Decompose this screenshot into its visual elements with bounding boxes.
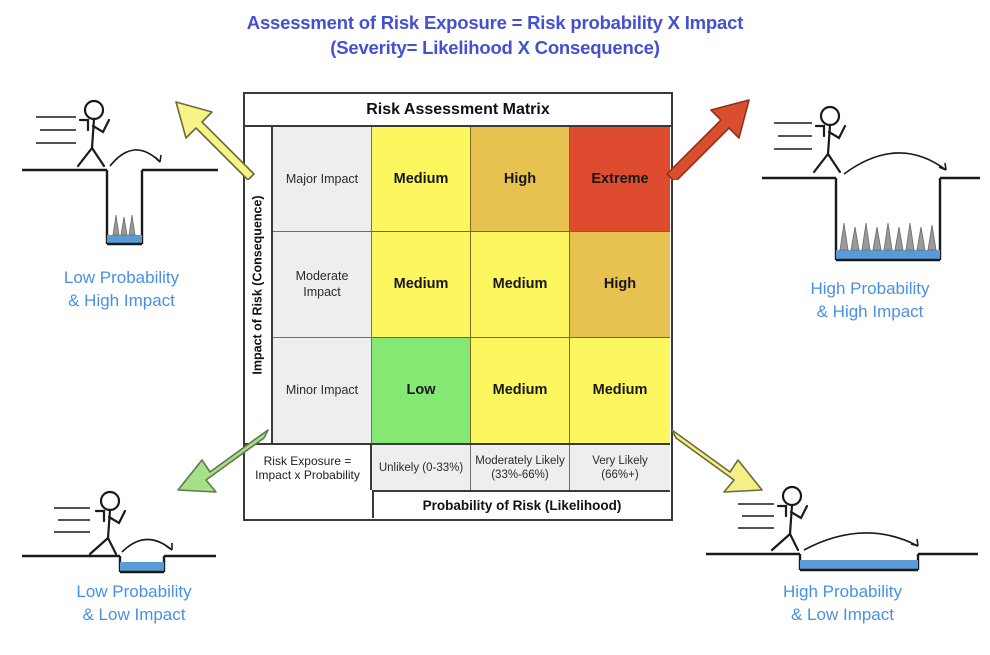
caption-line-2: & Low Impact xyxy=(700,603,985,626)
prob-moderate-line-1: Moderately Likely xyxy=(475,454,564,468)
jump-arc-icon xyxy=(844,153,946,174)
matrix-header-title: Risk Assessment Matrix xyxy=(245,94,671,127)
matrix-probability-row: Risk Exposure = Impact x Probability Unl… xyxy=(245,443,670,490)
jump-arc-icon xyxy=(804,533,918,550)
caption-low-probability-low-impact: Low Probability & Low Impact xyxy=(16,580,252,626)
caption-line-2: & High Impact xyxy=(756,300,984,323)
matrix-grid: Major Impact Medium High Extreme Moderat… xyxy=(273,127,670,443)
water-icon xyxy=(836,250,940,260)
arrow-up-right xyxy=(665,98,760,185)
speed-lines-icon xyxy=(54,508,90,532)
caption-high-probability-low-impact: High Probability & Low Impact xyxy=(700,580,985,626)
scenario-high-probability-high-impact: High Probability & High Impact xyxy=(756,90,984,323)
ground-and-pit xyxy=(762,178,980,260)
prob-moderate-line-2: (33%-66%) xyxy=(475,468,564,482)
matrix-cell-major-unlikely[interactable]: Medium xyxy=(372,127,471,232)
caption-line-1: High Probability xyxy=(756,277,984,300)
title-line-1: Assessment of Risk Exposure = Risk proba… xyxy=(0,10,990,35)
stick-figure-icon xyxy=(814,107,845,172)
stick-figure-icon xyxy=(772,487,807,550)
water-icon xyxy=(120,562,164,572)
stick-figure-icon xyxy=(90,492,125,554)
caption-line-2: & Low Impact xyxy=(16,603,252,626)
speed-lines-icon xyxy=(36,117,76,143)
page-title: Assessment of Risk Exposure = Risk proba… xyxy=(0,10,990,60)
caption-low-probability-high-impact: Low Probability & High Impact xyxy=(14,266,229,312)
prob-very-likely-line-1: Very Likely xyxy=(592,454,648,468)
ground-and-pit xyxy=(22,170,218,244)
matrix-cell-minor-very-likely[interactable]: Medium xyxy=(570,338,670,443)
caption-line-1: Low Probability xyxy=(14,266,229,289)
probability-label-unlikely: Unlikely (0-33%) xyxy=(372,445,471,490)
jump-arc-icon xyxy=(110,150,161,166)
sketch-small-puddle xyxy=(16,468,252,578)
caption-line-2: & High Impact xyxy=(14,289,229,312)
prob-unlikely-line-1: Unlikely (0-33%) xyxy=(379,461,463,475)
caption-line-1: High Probability xyxy=(700,580,985,603)
caption-high-probability-high-impact: High Probability & High Impact xyxy=(756,277,984,323)
diagram-canvas: Assessment of Risk Exposure = Risk proba… xyxy=(0,0,990,655)
matrix-cell-moderate-very-likely[interactable]: High xyxy=(570,232,670,337)
matrix-cell-major-moderately-likely[interactable]: High xyxy=(471,127,570,232)
sketch-wide-deep-pit xyxy=(756,90,984,275)
matrix-cell-moderate-unlikely[interactable]: Medium xyxy=(372,232,471,337)
jump-arc-icon xyxy=(122,539,172,552)
spikes-icon xyxy=(113,215,135,235)
speed-lines-icon xyxy=(774,123,812,149)
matrix-x-axis-label: Probability of Risk (Likelihood) xyxy=(372,490,670,518)
probability-label-moderately-likely: Moderately Likely (33%-66%) xyxy=(471,445,570,490)
stick-figure-icon xyxy=(78,101,109,166)
scenario-high-probability-low-impact: High Probability & Low Impact xyxy=(700,468,985,626)
probability-label-very-likely: Very Likely (66%+) xyxy=(570,445,670,490)
spikes-icon xyxy=(840,223,936,250)
matrix-cell-minor-unlikely[interactable]: Low xyxy=(372,338,471,443)
water-icon xyxy=(107,235,142,244)
water-icon xyxy=(800,560,918,570)
matrix-cell-moderate-moderately-likely[interactable]: Medium xyxy=(471,232,570,337)
ground-and-pit xyxy=(22,556,216,572)
scenario-low-probability-high-impact: Low Probability & High Impact xyxy=(14,82,229,312)
matrix-cell-minor-moderately-likely[interactable]: Medium xyxy=(471,338,570,443)
speed-lines-icon xyxy=(738,504,774,528)
row-label-moderate-impact: Moderate Impact xyxy=(273,232,372,337)
title-line-2: (Severity= Likelihood X Consequence) xyxy=(0,35,990,60)
matrix-cell-major-very-likely[interactable]: Extreme xyxy=(570,127,670,232)
sketch-wide-puddle xyxy=(700,468,985,578)
row-label-major-impact: Major Impact xyxy=(273,127,372,232)
y-axis-text: Impact of Risk (Consequence) xyxy=(251,195,265,374)
scenario-low-probability-low-impact: Low Probability & Low Impact xyxy=(16,468,252,626)
sketch-narrow-deep-pit xyxy=(14,82,229,262)
caption-line-1: Low Probability xyxy=(16,580,252,603)
row-label-minor-impact: Minor Impact xyxy=(273,338,372,443)
risk-assessment-matrix: Risk Assessment Matrix Impact of Risk (C… xyxy=(243,92,673,521)
prob-very-likely-line-2: (66%+) xyxy=(592,468,648,482)
